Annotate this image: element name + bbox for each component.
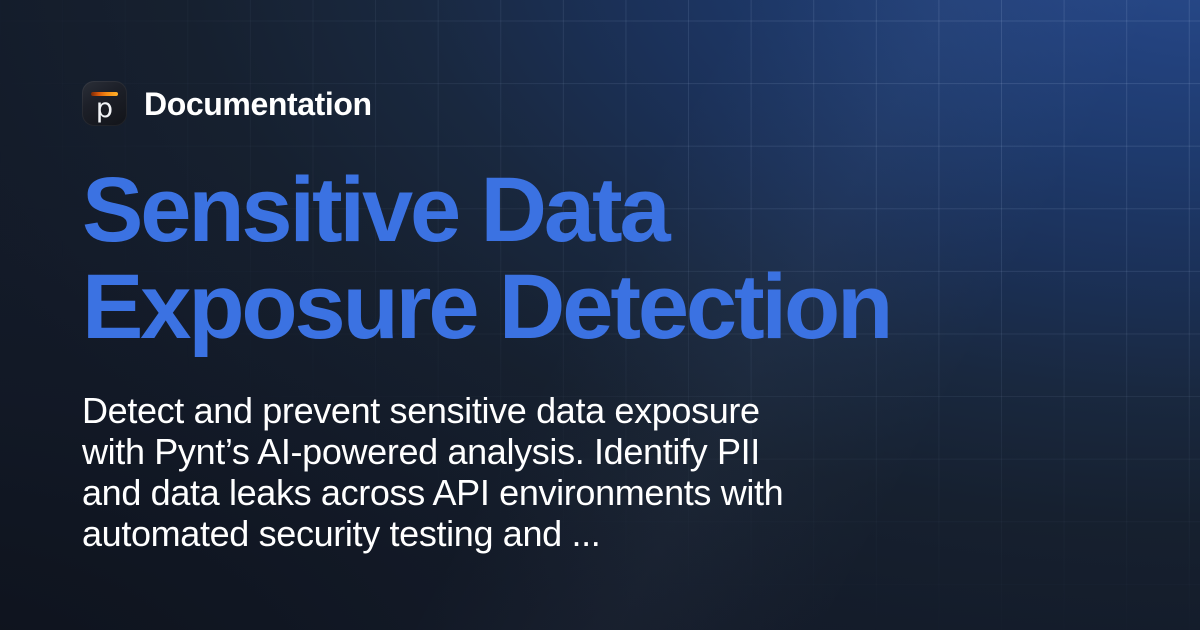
logo-letter: p: [82, 95, 127, 122]
og-preview-card: p Documentation Sensitive Data Exposure …: [0, 0, 1200, 630]
pynt-logo-icon: p: [82, 81, 127, 126]
page-description-line-1: Detect and prevent sensitive data exposu…: [82, 390, 783, 431]
page-description-line-3: and data leaks across API environments w…: [82, 472, 783, 513]
page-title-line-1: Sensitive Data: [82, 162, 890, 259]
content-area: p Documentation Sensitive Data Exposure …: [82, 0, 1200, 630]
page-title-line-2: Exposure Detection: [82, 259, 890, 356]
brand-row: p Documentation: [82, 81, 372, 126]
page-description: Detect and prevent sensitive data exposu…: [82, 390, 783, 554]
brand-label: Documentation: [144, 88, 372, 120]
page-description-line-4: automated security testing and ...: [82, 513, 783, 554]
page-title: Sensitive Data Exposure Detection: [82, 162, 890, 356]
page-description-line-2: with Pynt’s AI-powered analysis. Identif…: [82, 431, 783, 472]
